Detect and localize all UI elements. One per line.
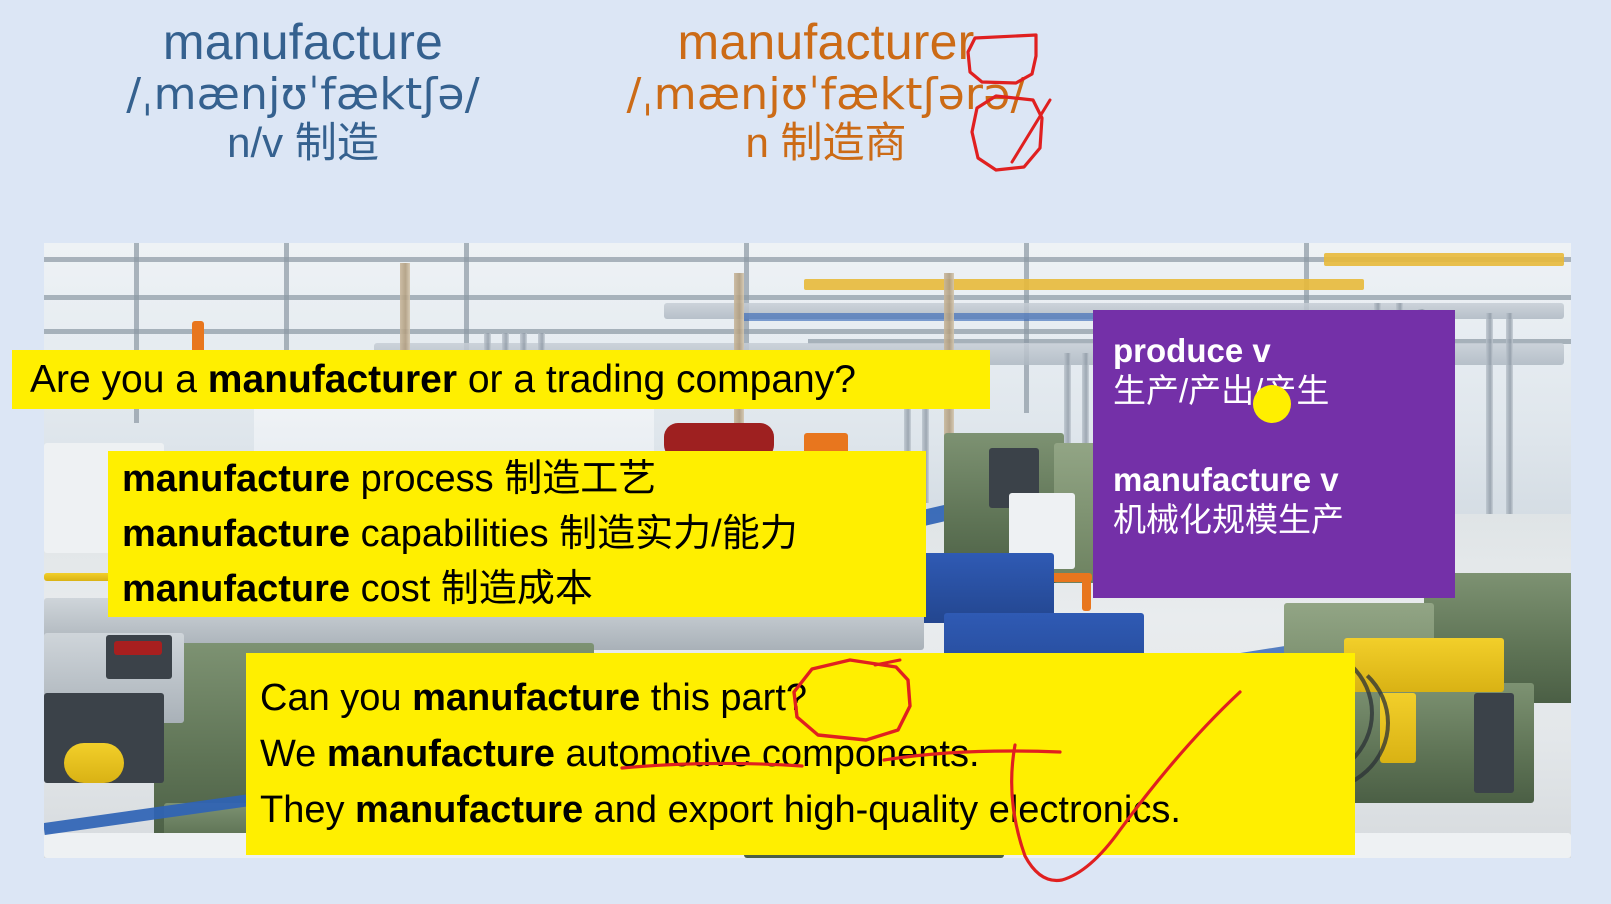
word-card-manufacturer: manufacturer /ˌmænjʊˈfæktʃərə/ n 制造商 xyxy=(566,14,1086,166)
example-sentence-line: They manufacture and export high-quality… xyxy=(260,782,1341,838)
word-header-area: manufacture /ˌmænjʊˈfæktʃə/ n/v 制造 manuf… xyxy=(0,0,1611,243)
callout-example-sentences: Can you manufacture this part? We manufa… xyxy=(246,653,1355,855)
gloss-manufacturer: n 制造商 xyxy=(566,119,1086,166)
synonym-panel: produce v 生产/产出/产生 manufacture v 机械化规模生产 xyxy=(1093,310,1455,598)
gloss-manufacture: n/v 制造 xyxy=(68,119,538,166)
collocation-keyword: manufacture xyxy=(122,513,350,555)
ceiling-beam xyxy=(1024,243,1029,413)
cursor-dot[interactable] xyxy=(1253,385,1291,423)
overhead-crane-rail xyxy=(1324,253,1564,266)
sentence-keyword: manufacture xyxy=(355,789,583,831)
question-text-after: or a trading company? xyxy=(457,358,856,401)
collocation-keyword: manufacture xyxy=(122,458,350,500)
sentence-text-after: and export high-quality electronics. xyxy=(583,789,1181,831)
sentence-keyword: manufacture xyxy=(327,733,555,775)
headword-manufacturer: manufacturer xyxy=(566,14,1086,70)
ceiling-beam xyxy=(44,295,1571,300)
sentence-text-before: They xyxy=(260,789,355,831)
control-panel-screen xyxy=(114,641,162,655)
example-sentence-line: Can you manufacture this part? xyxy=(260,670,1341,726)
collocation-rest: capabilities 制造实力/能力 xyxy=(350,513,798,555)
overhead-crane-rail xyxy=(804,279,1364,290)
question-keyword: manufacturer xyxy=(208,358,457,401)
ipa-manufacturer: /ˌmænjʊˈfæktʃərə/ xyxy=(566,70,1086,119)
example-sentence-line: We manufacture automotive components. xyxy=(260,726,1341,782)
sentence-text-before: Can you xyxy=(260,677,412,719)
sentence-text-after: this part? xyxy=(640,677,807,719)
ipa-manufacture: /ˌmænjʊˈfæktʃə/ xyxy=(68,70,538,119)
synonym-word-manufacture: manufacture v xyxy=(1113,461,1455,500)
callout-collocations: manufacture process 制造工艺 manufacture cap… xyxy=(108,451,926,617)
collocation-rest: process 制造工艺 xyxy=(350,458,656,500)
synonym-gloss-manufacture: 机械化规模生产 xyxy=(1113,500,1455,540)
sentence-text-after: automotive components. xyxy=(555,733,980,775)
synonym-word-produce: produce v xyxy=(1113,332,1455,371)
collocation-line: manufacture capabilities 制造实力/能力 xyxy=(122,507,912,562)
callout-question-line: Are you a manufacturer or a trading comp… xyxy=(30,350,972,409)
collocation-line: manufacture cost 制造成本 xyxy=(122,562,912,617)
headword-manufacture: manufacture xyxy=(68,14,538,70)
word-card-manufacture: manufacture /ˌmænjʊˈfæktʃə/ n/v 制造 xyxy=(68,14,538,166)
machine-stand xyxy=(1082,579,1091,611)
collocation-line: manufacture process 制造工艺 xyxy=(122,452,912,507)
collocation-keyword: manufacture xyxy=(122,568,350,610)
machine-unit xyxy=(1474,693,1514,793)
question-text-before: Are you a xyxy=(30,358,208,401)
sentence-text-before: We xyxy=(260,733,327,775)
machine-unit xyxy=(64,743,124,783)
sentence-keyword: manufacture xyxy=(412,677,640,719)
collocation-rest: cost 制造成本 xyxy=(350,568,593,610)
callout-question-sentence: Are you a manufacturer or a trading comp… xyxy=(12,350,990,409)
